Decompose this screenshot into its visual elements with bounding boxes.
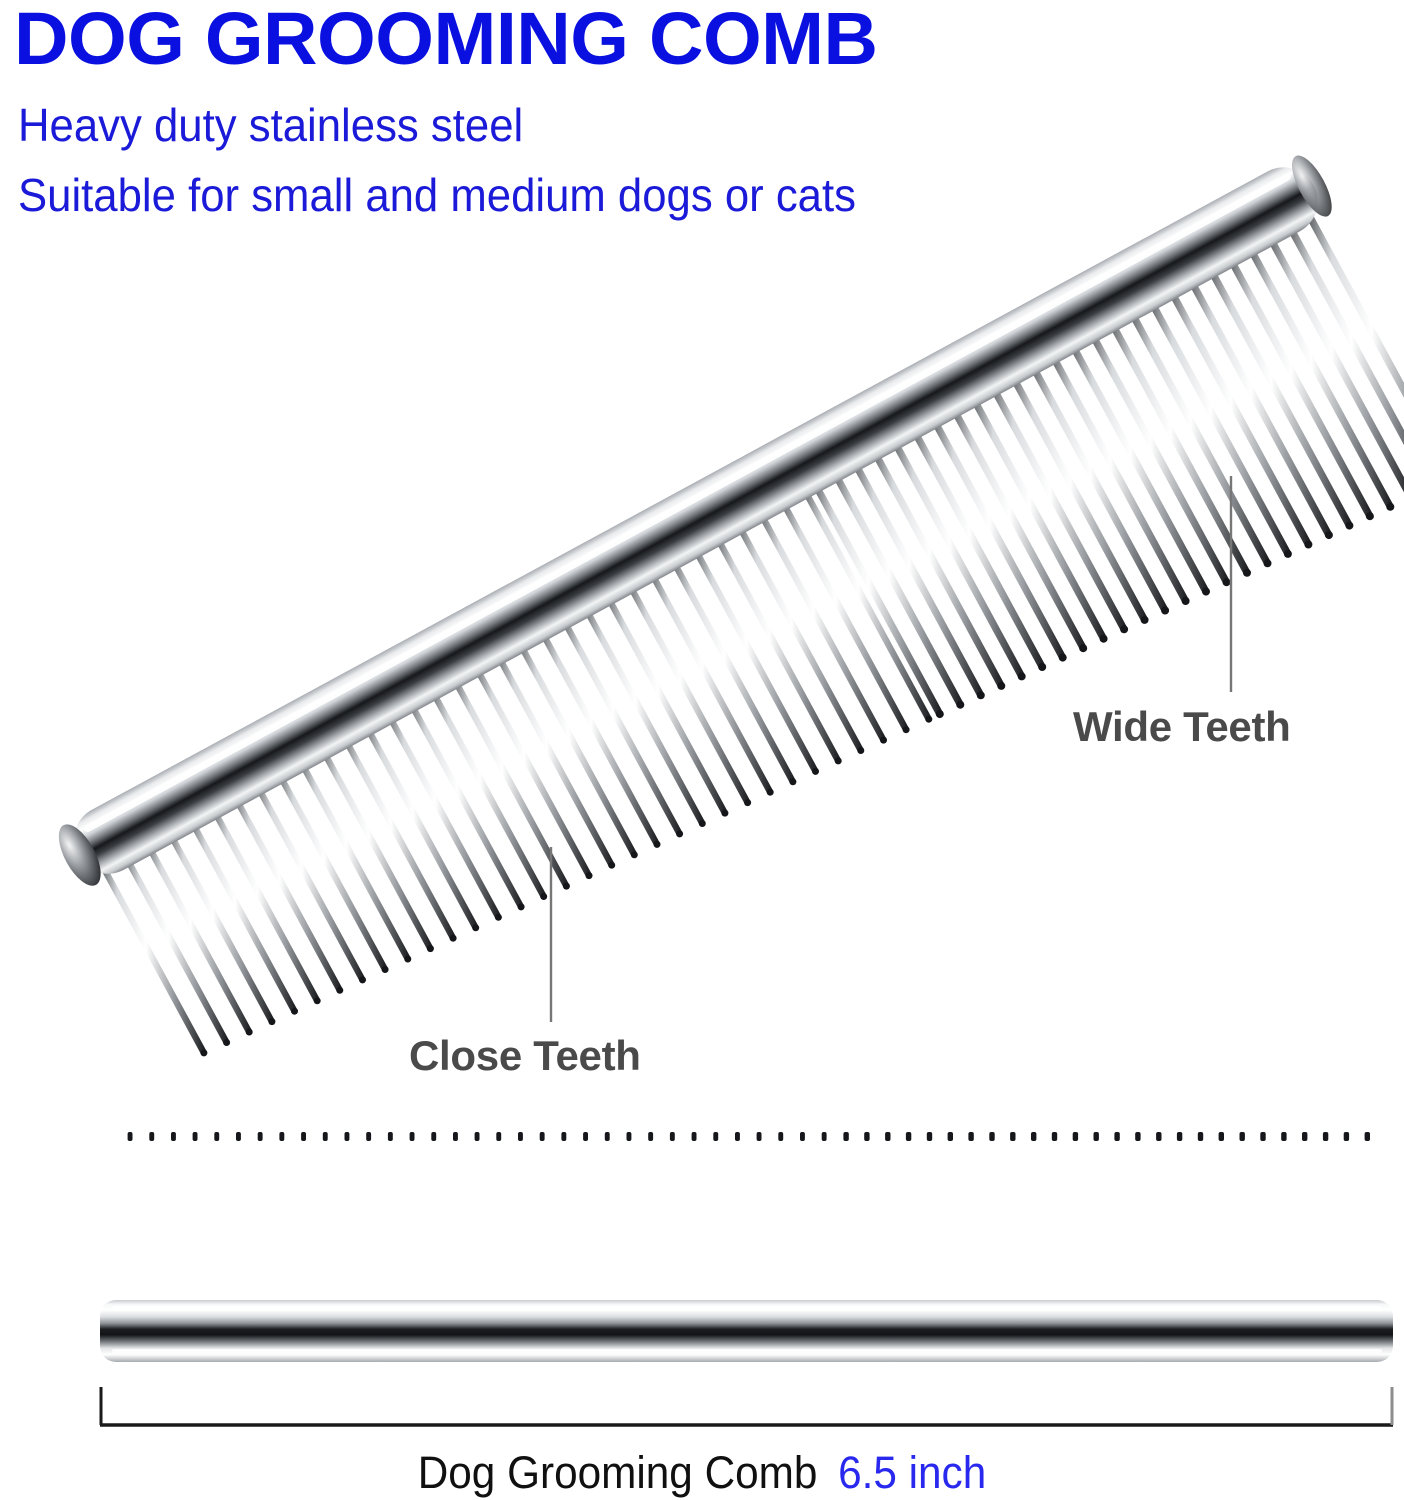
angled-tooth-tip (676, 830, 683, 837)
angled-tooth-tip (336, 987, 343, 994)
front-tooth-tip (128, 1132, 133, 1141)
angled-tooth-tip (1120, 625, 1128, 633)
angled-tooth-tip (1264, 559, 1272, 567)
angled-comb (50, 150, 1404, 1056)
angled-tooth-tip (767, 789, 774, 796)
front-tooth-tip (1323, 1132, 1328, 1141)
angled-tooth-tip (997, 682, 1005, 690)
front-tooth-tip (540, 1132, 545, 1141)
front-tooth-tip (323, 1132, 328, 1141)
caption-size: 6.5 inch (838, 1447, 986, 1498)
angled-tooth-tip (903, 726, 910, 733)
angled-tooth-tip (1202, 588, 1210, 596)
front-tooth-tip (627, 1132, 632, 1141)
angled-tooth-tip (427, 945, 434, 952)
angled-tooth-tip (404, 956, 411, 963)
front-tooth-tip (410, 1132, 415, 1141)
front-tooth-tip (258, 1132, 263, 1141)
angled-tooth-close (552, 599, 679, 834)
front-tooth-tip (1302, 1132, 1307, 1141)
angled-tooth-tip (268, 1018, 275, 1025)
front-tooth-tip (927, 1132, 932, 1141)
front-tooth-tip (583, 1132, 588, 1141)
angled-tooth-tip (812, 768, 819, 775)
angled-tooth-tip (563, 883, 570, 890)
angled-tooth-tip (382, 966, 389, 973)
angled-tooth-close (793, 469, 929, 720)
angled-tooth-tip (744, 799, 751, 806)
angled-tooth-tip (1038, 663, 1046, 671)
angled-tooth-tip (1182, 597, 1190, 605)
front-tooth-tip (989, 1132, 994, 1141)
angled-tooth-close (180, 801, 294, 1012)
angled-tooth-tip (789, 778, 796, 785)
angled-tooth-tip (1223, 578, 1231, 586)
front-tooth-tip (475, 1132, 480, 1141)
angled-tooth-tip (1079, 644, 1087, 652)
front-tooth-tip (171, 1132, 176, 1141)
angled-tooth-close (574, 587, 702, 823)
front-tooth-tip (692, 1132, 697, 1141)
front-tooth-tip (648, 1132, 653, 1141)
front-tooth-tip (948, 1132, 953, 1141)
front-tooth-tip (843, 1132, 848, 1141)
front-tooth-tip (1073, 1132, 1078, 1141)
angled-tooth-tip (291, 1008, 298, 1015)
angled-tooth-close (618, 563, 748, 802)
front-tooth-tip (800, 1132, 805, 1141)
angled-tooth-tip (1284, 550, 1292, 558)
front-tooth-tip (1135, 1132, 1140, 1141)
angled-tooth-close (93, 848, 204, 1053)
front-comb-bar (100, 1300, 1393, 1362)
angled-tooth-tip (1100, 635, 1108, 643)
angled-tooth-tip (540, 893, 547, 900)
front-comb-teeth (128, 1132, 1370, 1318)
front-tooth-tip (236, 1132, 241, 1141)
angled-tooth-tip (977, 691, 985, 699)
front-tooth-tip (388, 1132, 393, 1141)
front-tooth-tip (453, 1132, 458, 1141)
front-tooth-tip (885, 1132, 890, 1141)
front-tooth-tip (1198, 1132, 1203, 1141)
angled-tooth-tip (223, 1039, 230, 1046)
angled-tooth-tip (246, 1029, 253, 1036)
front-tooth-tip (1052, 1132, 1057, 1141)
angled-comb-teeth (93, 195, 1404, 1057)
angled-tooth-tip (631, 851, 638, 858)
angled-tooth-tip (880, 737, 887, 744)
angled-tooth-tip (495, 914, 502, 921)
angled-tooth-tip (1386, 503, 1394, 511)
front-tooth-tip (778, 1132, 783, 1141)
angled-tooth-tip (721, 810, 728, 817)
caption-product-name: Dog Grooming Comb (418, 1447, 818, 1498)
front-tooth-tip (1344, 1132, 1349, 1141)
front-tooth-tip (906, 1132, 911, 1141)
angled-tooth-tip (1243, 569, 1251, 577)
front-tooth-tip (193, 1132, 198, 1141)
front-tooth-tip (735, 1132, 740, 1141)
front-tooth-tip (1114, 1132, 1119, 1141)
angled-tooth-tip (1366, 512, 1374, 520)
angled-tooth-tip (1059, 654, 1067, 662)
angled-tooth-close (662, 540, 793, 782)
angled-tooth-tip (1304, 541, 1312, 549)
angled-tooth-tip (956, 701, 964, 709)
front-tooth-tip (1281, 1132, 1286, 1141)
angled-tooth-tip (1018, 672, 1026, 680)
front-tooth-tip (822, 1132, 827, 1141)
front-tooth-tip (670, 1132, 675, 1141)
angled-tooth-tip (1345, 522, 1353, 530)
front-tooth-tip (1010, 1132, 1015, 1141)
angled-tooth-close (530, 611, 657, 845)
front-tooth-tip (1219, 1132, 1224, 1141)
angled-tooth-tip (472, 924, 479, 931)
front-tooth-tip (1094, 1132, 1099, 1141)
front-tooth-tip (1260, 1132, 1265, 1141)
angled-tooth-tip (857, 747, 864, 754)
angled-tooth-tip (608, 862, 615, 869)
angled-tooth-tip (699, 820, 706, 827)
angled-tooth-tip (450, 935, 457, 942)
front-tooth-tip (1156, 1132, 1161, 1141)
angled-tooth-tip (1325, 531, 1333, 539)
front-comb (100, 1132, 1393, 1362)
angled-tooth-tip (1161, 607, 1169, 615)
angled-tooth-close (159, 812, 272, 1021)
callout-label-wide-teeth: Wide Teeth (1073, 703, 1291, 751)
front-tooth-tip (757, 1132, 762, 1141)
front-tooth-tip (279, 1132, 284, 1141)
angled-tooth-tip (925, 716, 932, 723)
front-tooth-tip (864, 1132, 869, 1141)
front-tooth-tip (561, 1132, 566, 1141)
front-tooth-tip (149, 1132, 154, 1141)
callout-label-close-teeth: Close Teeth (409, 1032, 641, 1080)
front-tooth-tip (1031, 1132, 1036, 1141)
front-tooth-tip (1177, 1132, 1182, 1141)
angled-tooth-tip (654, 841, 661, 848)
angled-tooth-tip (1141, 616, 1149, 624)
angled-tooth-close (202, 789, 317, 1001)
angled-tooth-close (705, 516, 838, 761)
angled-tooth-close (596, 575, 725, 813)
front-tooth-tip (214, 1132, 219, 1141)
angled-tooth-close (224, 777, 340, 991)
front-tooth-tip (518, 1132, 523, 1141)
front-tooth-tip (968, 1132, 973, 1141)
front-tooth-tip (431, 1132, 436, 1141)
angled-tooth-tip (518, 903, 525, 910)
front-tooth-tip (1365, 1132, 1370, 1141)
front-tooth-tip (496, 1132, 501, 1141)
angled-tooth-tip (359, 976, 366, 983)
angled-tooth-close (137, 824, 250, 1032)
angled-tooth-tip (835, 757, 842, 764)
angled-tooth-tip (936, 710, 944, 718)
front-tooth-tip (301, 1132, 306, 1141)
product-caption: Dog Grooming Comb6.5 inch (42, 1447, 1362, 1499)
front-tooth-tip (1240, 1132, 1245, 1141)
angled-tooth-close (115, 836, 227, 1042)
angled-tooth-close (727, 504, 861, 750)
front-tooth-tip (605, 1132, 610, 1141)
angled-tooth-tip (586, 872, 593, 879)
front-tooth-tip (713, 1132, 718, 1141)
angled-tooth-tip (314, 997, 321, 1004)
front-tooth-tip (345, 1132, 350, 1141)
front-tooth-tip (366, 1132, 371, 1141)
angled-tooth-tip (200, 1049, 207, 1056)
angled-tooth-close (684, 528, 816, 772)
angled-tooth-close (640, 552, 771, 793)
measurement-bracket (100, 1387, 1393, 1425)
